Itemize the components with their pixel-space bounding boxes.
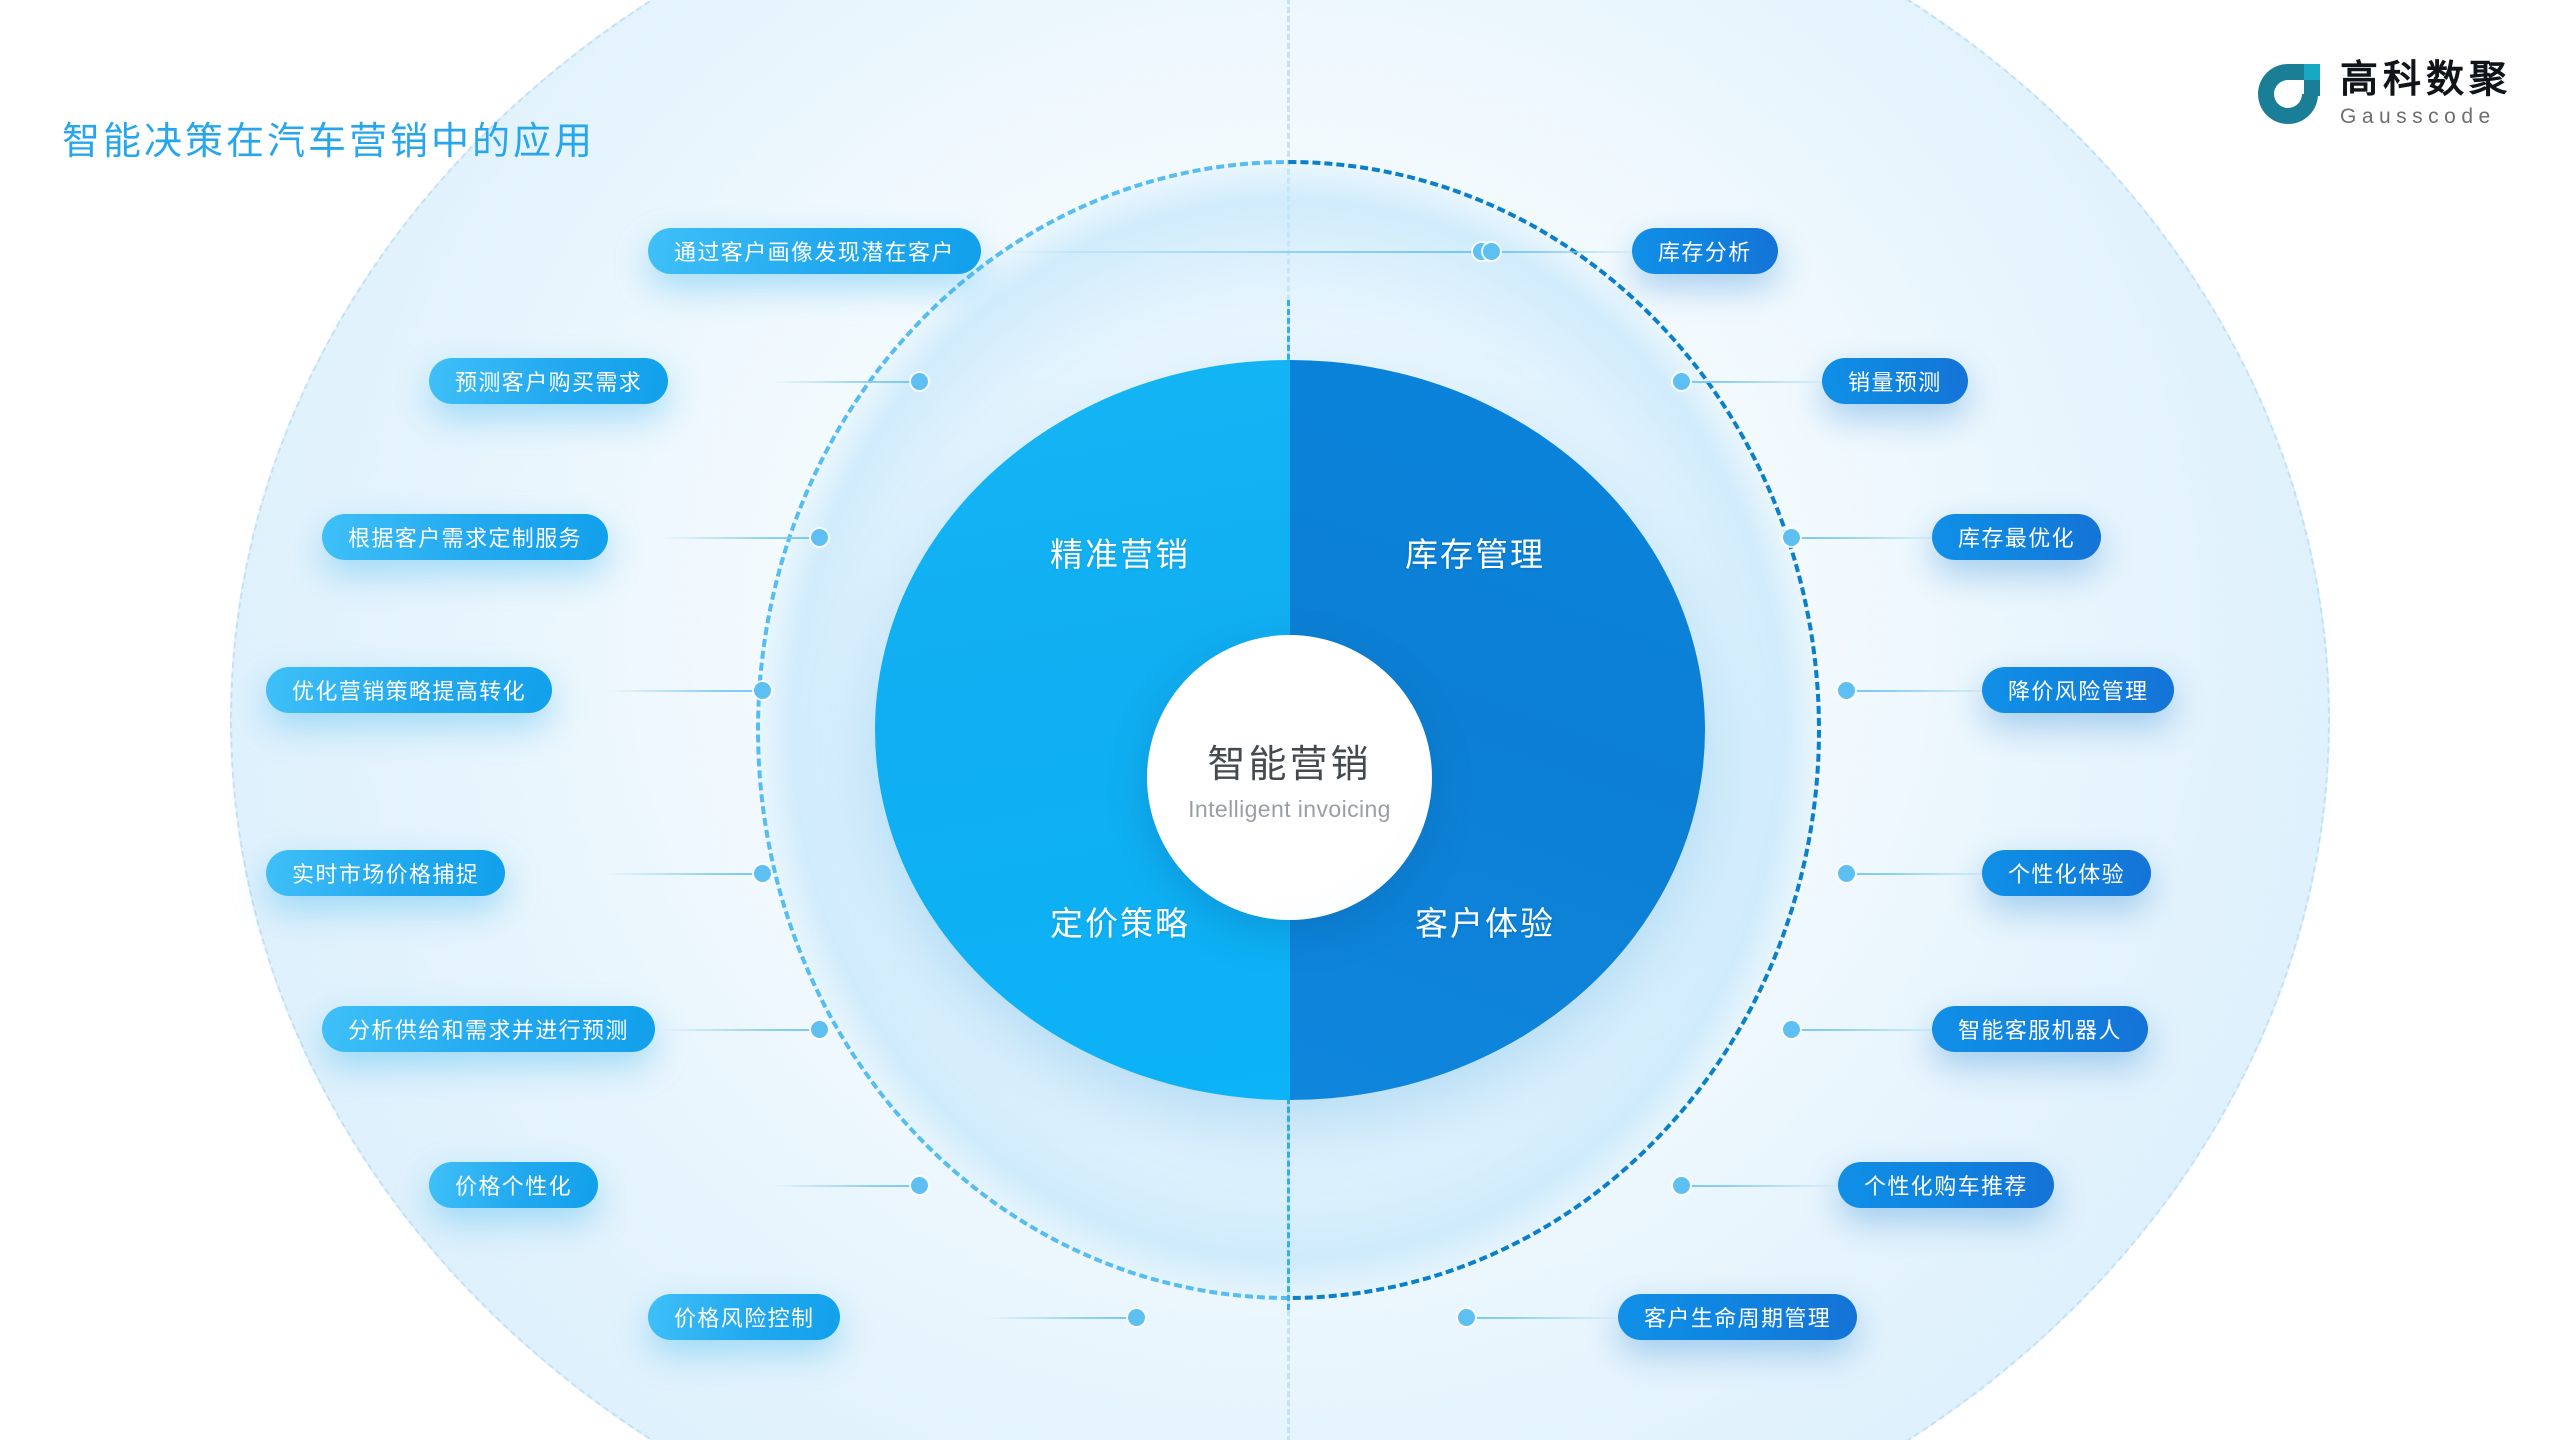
connector-line-right-2 (1680, 381, 1835, 383)
right-item-1[interactable]: 库存分析 (1632, 228, 1778, 274)
left-item-6-label: 分析供给和需求并进行预测 (348, 1013, 629, 1045)
gausscode-logo-mark-icon (2252, 58, 2324, 130)
right-item-3[interactable]: 库存最优化 (1932, 514, 2101, 560)
slide-canvas: 智能决策在汽车营销中的应用 高科数聚 Gausscode 精准营销 库存管理 定… (0, 0, 2560, 1440)
right-item-7-label: 个性化购车推荐 (1864, 1169, 2028, 1201)
left-item-8-label: 价格风险控制 (674, 1301, 814, 1333)
connector-line-right-4 (1845, 690, 2000, 692)
right-item-1-label: 库存分析 (1658, 235, 1752, 267)
connector-line-left-8 (985, 1317, 1135, 1319)
connector-dot-right-1 (1483, 243, 1500, 260)
connector-line-right-5 (1845, 873, 2000, 875)
quadrant-label-bottom-left: 定价策略 (1050, 897, 1190, 945)
connector-line-left-2 (770, 381, 918, 383)
connector-line-left-6 (660, 1029, 818, 1031)
left-item-3[interactable]: 根据客户需求定制服务 (322, 514, 608, 560)
left-item-2[interactable]: 预测客户购买需求 (429, 358, 668, 404)
connector-dot-right-5 (1838, 865, 1855, 882)
left-item-7[interactable]: 价格个性化 (429, 1162, 598, 1208)
connector-line-right-7 (1680, 1185, 1845, 1187)
connector-dot-left-2 (911, 373, 928, 390)
left-item-4-label: 优化营销策略提高转化 (292, 674, 526, 706)
connector-dot-left-3 (811, 529, 828, 546)
connector-dot-left-8 (1128, 1309, 1145, 1326)
connector-dot-right-2 (1673, 373, 1690, 390)
connector-line-right-6 (1790, 1029, 1950, 1031)
logo-name-cn: 高科数聚 (2340, 61, 2512, 99)
connector-line-right-1 (1490, 251, 1645, 253)
connector-line-left-1 (985, 251, 1480, 253)
core-title-en: Intelligent invoicing (1188, 796, 1391, 823)
page-title: 智能决策在汽车营销中的应用 (62, 110, 595, 165)
center-core-bubble: 智能营销 Intelligent invoicing (1147, 635, 1432, 920)
connector-dot-left-7 (911, 1177, 928, 1194)
core-title-cn: 智能营销 (1207, 733, 1371, 788)
quadrant-label-top-left: 精准营销 (1050, 528, 1190, 576)
left-item-8[interactable]: 价格风险控制 (648, 1294, 840, 1340)
right-item-4[interactable]: 降价风险管理 (1982, 667, 2174, 713)
connector-dot-left-6 (811, 1021, 828, 1038)
left-item-3-label: 根据客户需求定制服务 (348, 521, 582, 553)
connector-line-left-5 (608, 873, 761, 875)
right-item-3-label: 库存最优化 (1958, 521, 2075, 553)
connector-dot-left-5 (754, 865, 771, 882)
right-item-8[interactable]: 客户生命周期管理 (1618, 1294, 1857, 1340)
right-item-8-label: 客户生命周期管理 (1644, 1301, 1831, 1333)
left-item-1[interactable]: 通过客户画像发现潜在客户 (648, 228, 981, 274)
connector-dot-right-3 (1783, 529, 1800, 546)
brand-logo: 高科数聚 Gausscode (2252, 58, 2512, 130)
quadrant-label-bottom-right: 客户体验 (1415, 897, 1555, 945)
connector-line-right-8 (1465, 1317, 1625, 1319)
connector-dot-right-8 (1458, 1309, 1475, 1326)
left-item-2-label: 预测客户购买需求 (455, 365, 642, 397)
left-item-5-label: 实时市场价格捕捉 (292, 857, 479, 889)
quadrant-label-top-right: 库存管理 (1405, 528, 1545, 576)
right-item-6[interactable]: 智能客服机器人 (1932, 1006, 2148, 1052)
right-item-6-label: 智能客服机器人 (1958, 1013, 2122, 1045)
connector-dot-right-7 (1673, 1177, 1690, 1194)
right-item-2[interactable]: 销量预测 (1822, 358, 1968, 404)
connector-line-left-7 (770, 1185, 918, 1187)
right-item-7[interactable]: 个性化购车推荐 (1838, 1162, 2054, 1208)
connector-dot-left-4 (754, 682, 771, 699)
connector-line-right-3 (1790, 537, 1950, 539)
left-item-4[interactable]: 优化营销策略提高转化 (266, 667, 552, 713)
left-item-5[interactable]: 实时市场价格捕捉 (266, 850, 505, 896)
right-item-4-label: 降价风险管理 (2008, 674, 2148, 706)
logo-name-en: Gausscode (2340, 106, 2512, 127)
connector-line-left-3 (660, 537, 818, 539)
connector-dot-right-6 (1783, 1021, 1800, 1038)
right-item-2-label: 销量预测 (1848, 365, 1942, 397)
right-item-5[interactable]: 个性化体验 (1982, 850, 2151, 896)
right-item-5-label: 个性化体验 (2008, 857, 2125, 889)
left-item-7-label: 价格个性化 (455, 1169, 572, 1201)
left-item-1-label: 通过客户画像发现潜在客户 (674, 235, 955, 267)
connector-dot-right-4 (1838, 682, 1855, 699)
left-item-6[interactable]: 分析供给和需求并进行预测 (322, 1006, 655, 1052)
connector-line-left-4 (608, 690, 761, 692)
